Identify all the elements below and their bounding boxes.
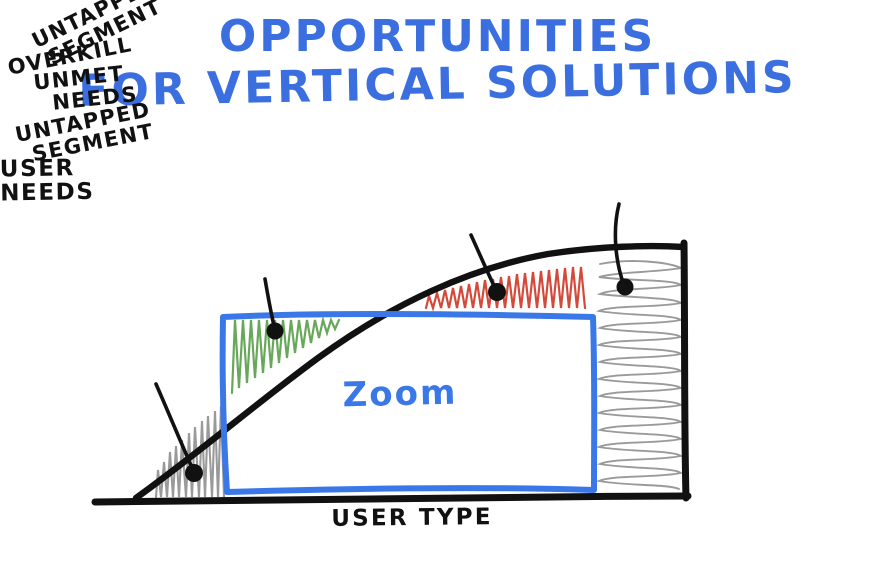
y-axis-label: USER NEEDS bbox=[0, 154, 170, 206]
leader-overkill bbox=[265, 279, 284, 340]
y-axis-line bbox=[684, 243, 686, 498]
region-untapped-right-scribble bbox=[599, 261, 681, 489]
x-axis-label: USER TYPE bbox=[262, 504, 562, 532]
region-untapped-left-scribble bbox=[156, 406, 224, 497]
region-unmet-needs-scribble bbox=[426, 267, 585, 308]
y-axis-label-line1: USER bbox=[0, 154, 170, 181]
y-axis-label-line2: NEEDS bbox=[0, 179, 170, 206]
diagram-canvas: OPPORTUNITIES FOR VERTICAL SOLUTIONS UNT… bbox=[0, 0, 875, 588]
x-axis-line bbox=[95, 496, 688, 502]
zoom-box-label: Zoom bbox=[320, 374, 481, 414]
